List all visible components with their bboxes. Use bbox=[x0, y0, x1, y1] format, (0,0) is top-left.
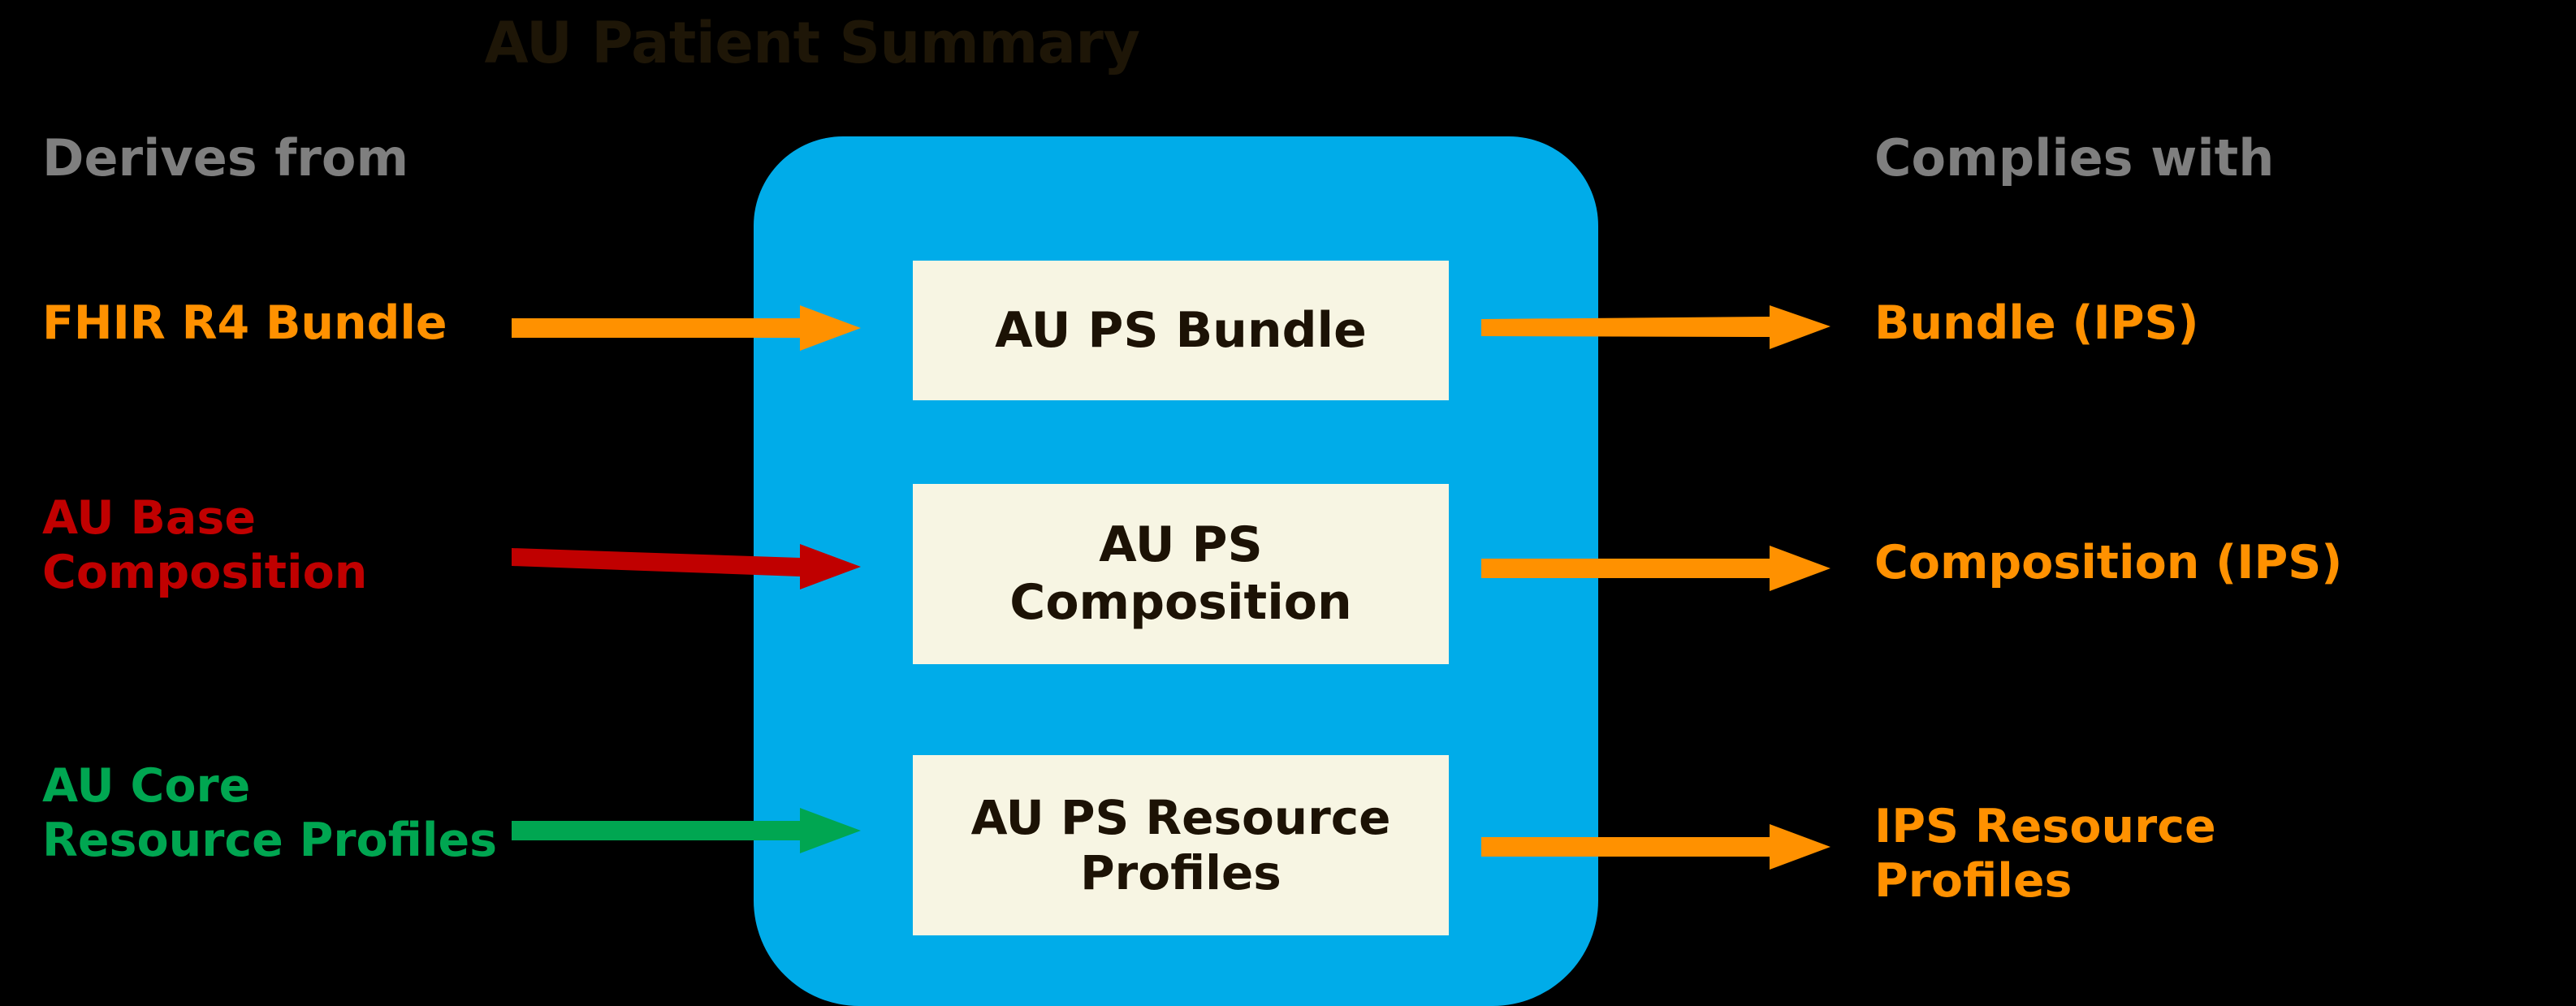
box-au-ps-resource-profiles[interactable]: AU PS Resource Profiles bbox=[913, 755, 1449, 935]
label-fhir-r4-bundle: FHIR R4 Bundle bbox=[42, 296, 447, 351]
box-au-ps-bundle[interactable]: AU PS Bundle bbox=[913, 261, 1449, 400]
box-au-ps-bundle-label: AU PS Bundle bbox=[995, 302, 1367, 360]
arrow-au-base-to-composition bbox=[512, 540, 861, 589]
arrow-profiles-to-ips-profiles bbox=[1481, 824, 1830, 873]
label-ips-resource-profiles: IPS Resource Profiles bbox=[1874, 800, 2216, 908]
label-au-core-resource-profiles: AU Core Resource Profiles bbox=[42, 759, 497, 867]
label-au-base-composition: AU Base Composition bbox=[42, 491, 367, 599]
arrow-fhir-to-bundle bbox=[512, 305, 861, 354]
arrow-bundle-to-ips-bundle bbox=[1481, 305, 1830, 354]
arrow-composition-to-ips-composition-shape bbox=[1481, 546, 1830, 591]
arrow-au-core-to-profiles-shape bbox=[512, 808, 861, 853]
arrow-bundle-to-ips-bundle-shape bbox=[1481, 305, 1830, 349]
box-au-ps-resource-profiles-label: AU PS Resource Profiles bbox=[924, 790, 1437, 901]
diagram-canvas: AU Patient Summary Derives from Complies… bbox=[0, 0, 2576, 1006]
label-composition-ips: Composition (IPS) bbox=[1874, 536, 2342, 590]
arrow-au-core-to-profiles bbox=[512, 808, 861, 857]
arrow-composition-to-ips-composition bbox=[1481, 546, 1830, 594]
box-au-ps-composition[interactable]: AU PS Composition bbox=[913, 484, 1449, 664]
label-bundle-ips: Bundle (IPS) bbox=[1874, 296, 2199, 351]
arrow-au-base-to-composition-shape bbox=[512, 544, 861, 589]
page-title: AU Patient Summary bbox=[0, 10, 1624, 76]
box-au-ps-composition-label: AU PS Composition bbox=[924, 516, 1437, 632]
left-column-header: Derives from bbox=[42, 128, 408, 188]
arrow-fhir-to-bundle-shape bbox=[512, 305, 861, 351]
right-column-header: Complies with bbox=[1874, 128, 2274, 188]
arrow-profiles-to-ips-profiles-shape bbox=[1481, 824, 1830, 870]
